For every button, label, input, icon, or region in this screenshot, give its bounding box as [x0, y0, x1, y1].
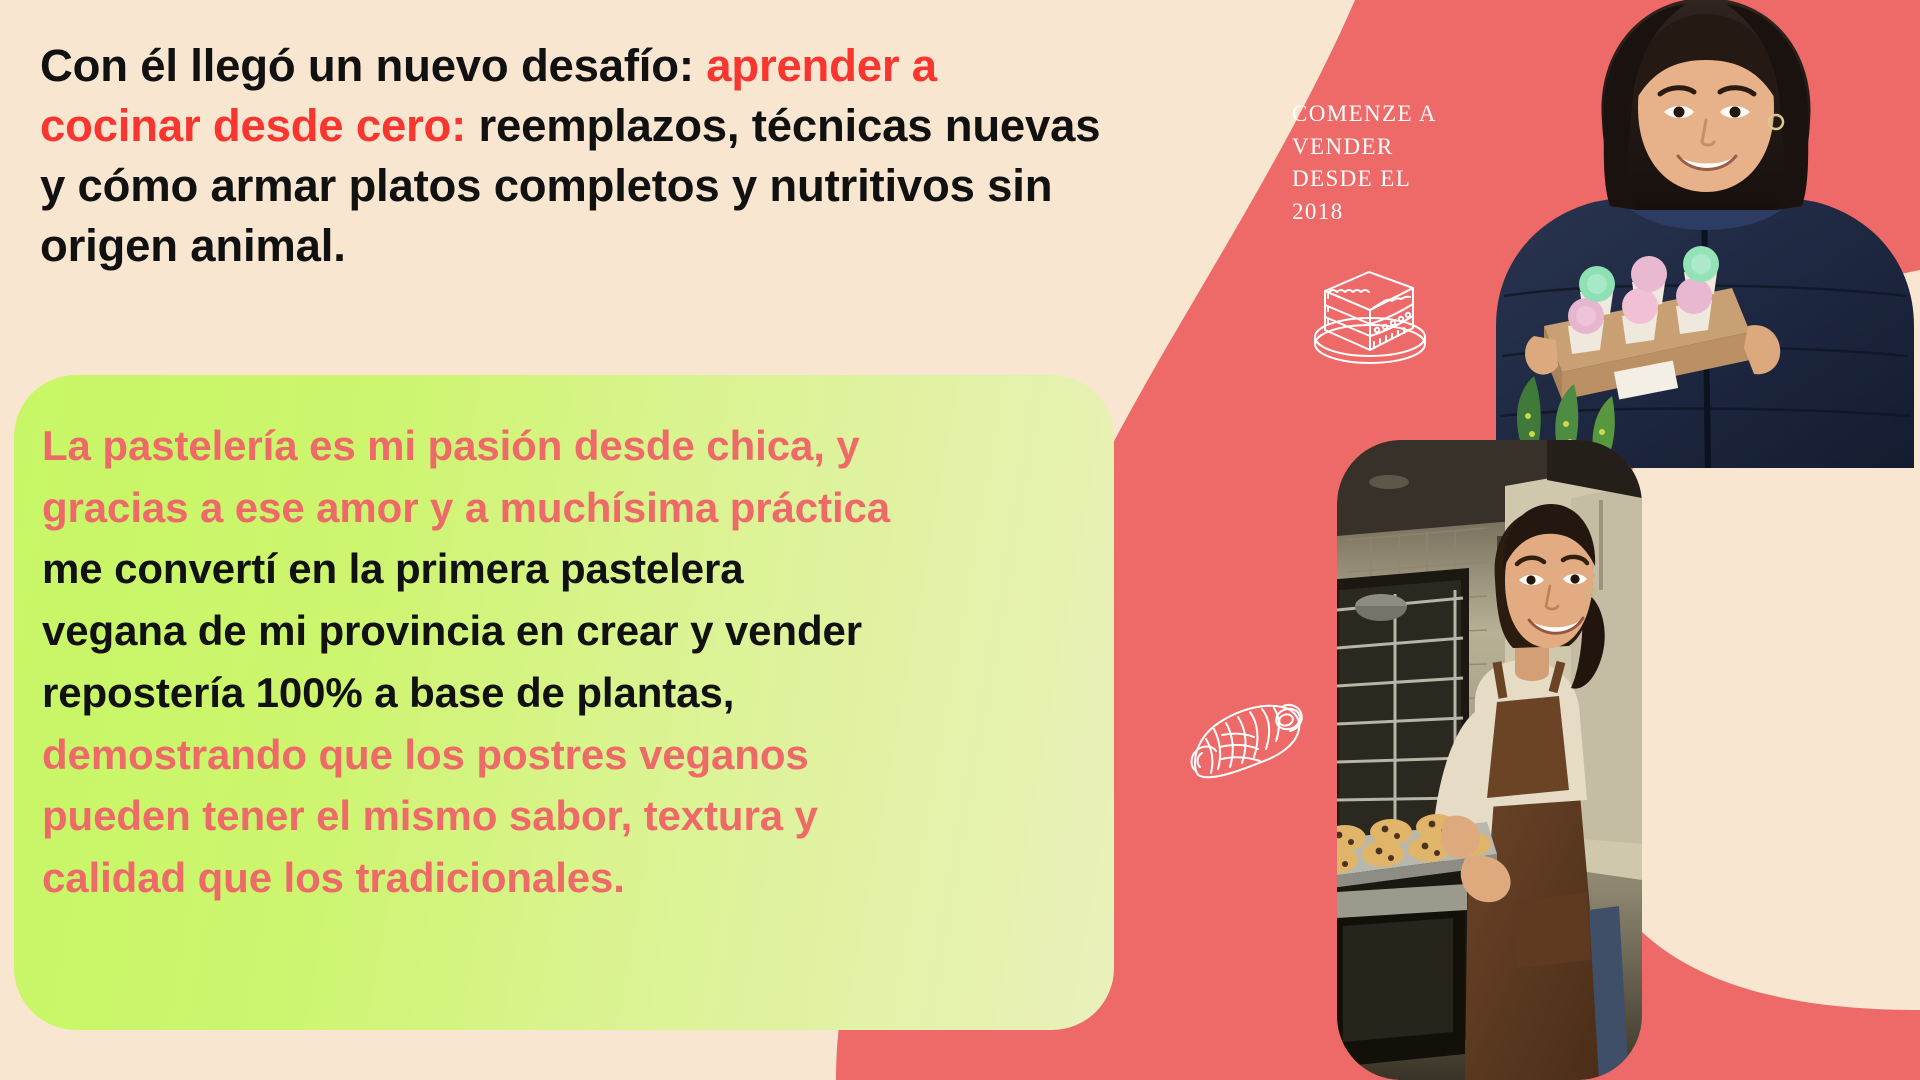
heading-segment-4: reemplazos, técnicas nuevas [466, 100, 1100, 151]
heading-segment-1: Con él llegó un nuevo desafío: [40, 40, 706, 91]
promo-slide: Con él llegó un nuevo desafío: aprender … [0, 0, 1920, 1080]
green-line-6-highlight: demostrando que los postres veganos [42, 731, 809, 778]
green-line-3: me convertí en la primera pastelera [42, 545, 744, 592]
green-line-4: vegana de mi provincia en crear y vender [42, 607, 862, 654]
caption-line-2: VENDER [1292, 134, 1394, 159]
intro-heading: Con él llegó un nuevo desafío: aprender … [40, 36, 1210, 276]
photo-baker-with-cookie-tray [1337, 440, 1642, 1080]
caption-line-3: DESDE EL [1292, 166, 1411, 191]
green-line-8-highlight: calidad que los tradicionales. [42, 854, 625, 901]
caption-line-1: COMENZE A [1292, 101, 1437, 126]
heading-segment-6: origen animal. [40, 220, 346, 271]
heading-segment-2-highlight: aprender a [706, 40, 937, 91]
photo-woman-with-cupcake-box [1476, 0, 1920, 468]
croissant-icon [1178, 683, 1314, 795]
green-line-2-highlight: gracias a ese amor y a muchísima práctic… [42, 484, 890, 531]
green-line-1-highlight: La pastelería es mi pasión desde chica, … [42, 422, 860, 469]
green-panel-text: La pastelería es mi pasión desde chica, … [42, 415, 1092, 909]
caption-line-4: 2018 [1292, 199, 1344, 224]
cake-slice-icon [1295, 258, 1445, 378]
heading-segment-5: y cómo armar platos completos y nutritiv… [40, 160, 1052, 211]
heading-segment-3-highlight: cocinar desde cero: [40, 100, 466, 151]
green-line-7-highlight: pueden tener el mismo sabor, textura y [42, 792, 818, 839]
green-line-5: repostería 100% a base de plantas, [42, 669, 734, 716]
